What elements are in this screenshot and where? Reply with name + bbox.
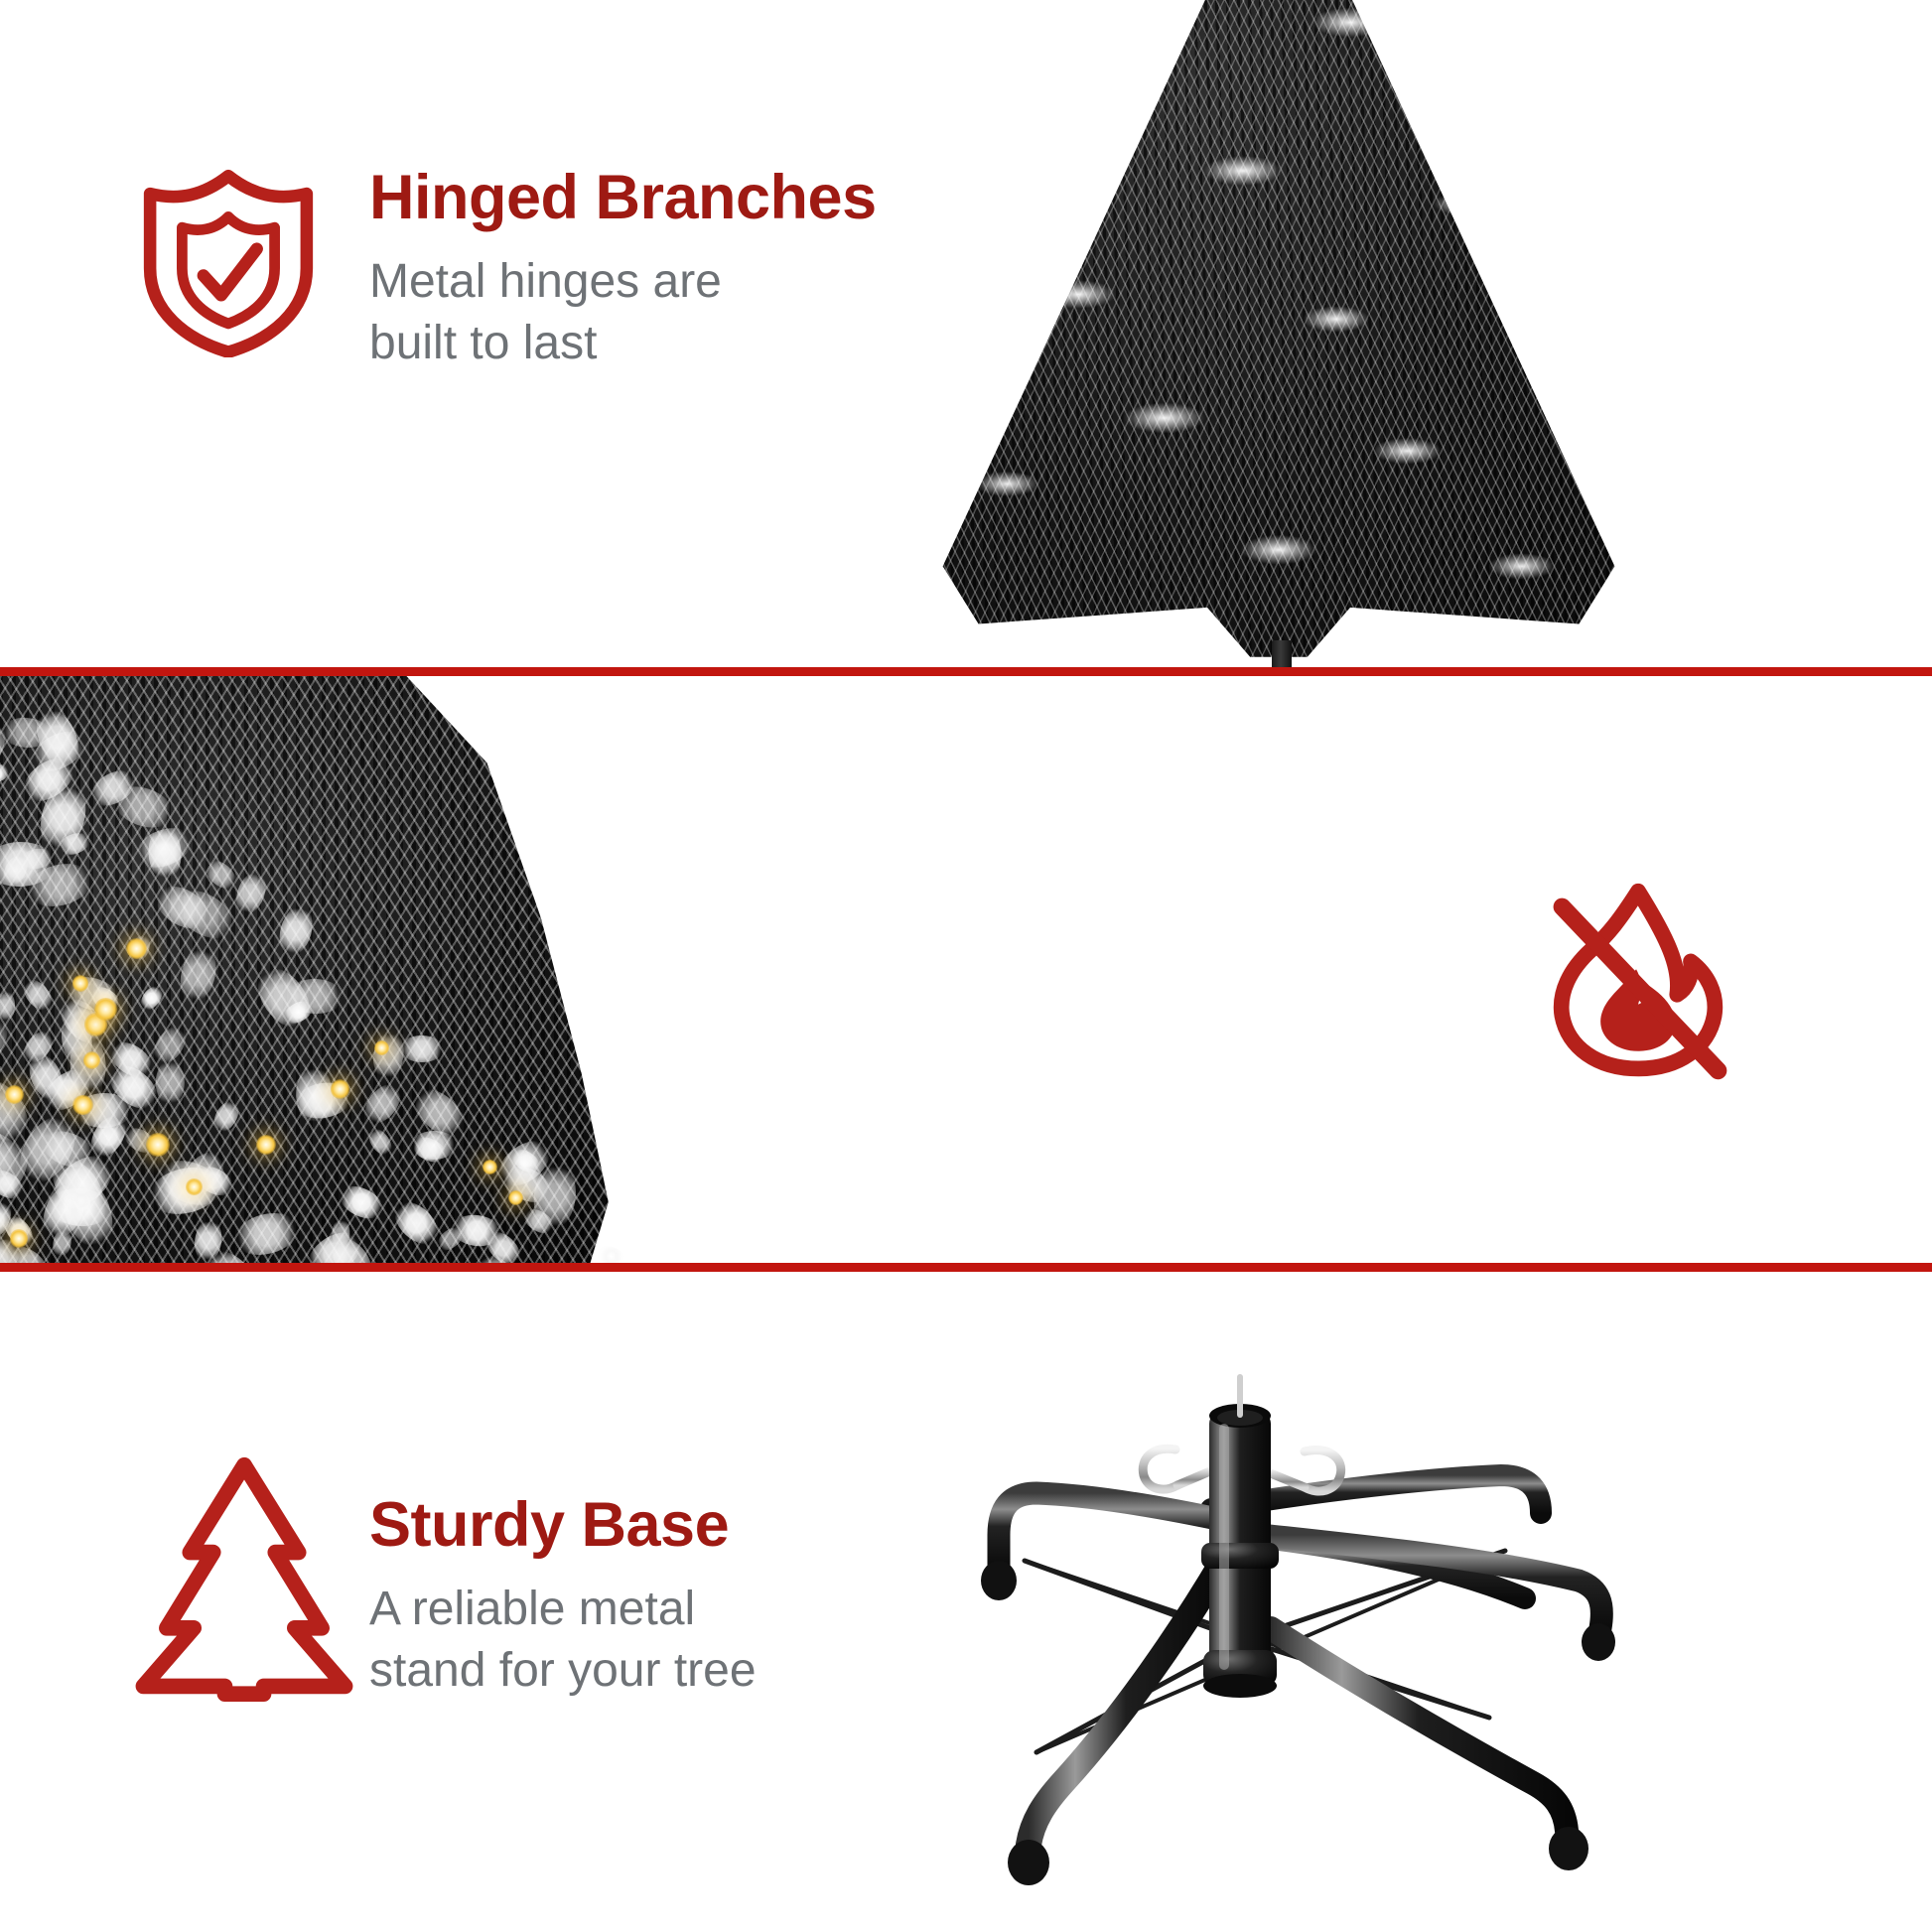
tree-foliage — [921, 0, 1636, 665]
feature-text-hinged-branches: Hinged Branches Metal hinges arebuilt to… — [369, 167, 877, 375]
feature-body: Metal hinges arebuilt to last — [369, 251, 877, 375]
flocked-tip — [594, 1242, 629, 1263]
product-feature-infographic: Hinged Branches Metal hinges arebuilt to… — [0, 0, 1932, 1932]
christmas-tree-icon — [127, 1451, 361, 1704]
tree-trunk — [1272, 640, 1292, 667]
product-photo-flocked-tree — [921, 0, 1636, 665]
feature-panel-hinged-branches: Hinged Branches Metal hinges arebuilt to… — [0, 0, 1932, 667]
feature-body: A reliable metalstand for your tree — [369, 1579, 757, 1703]
feature-heading: Sturdy Base — [369, 1494, 757, 1557]
feature-body-line-2: built to last — [369, 317, 597, 369]
section-divider — [0, 667, 1932, 676]
product-photo-prelit-tree-closeup — [0, 676, 635, 1263]
shield-check-icon — [139, 169, 318, 357]
feature-body-line-1: Metal hinges are — [369, 255, 722, 308]
product-photo-metal-tree-stand — [794, 1301, 1708, 1896]
feature-heading: Hinged Branches — [369, 167, 877, 229]
feature-text-sturdy-base: Sturdy Base A reliable metalstand for yo… — [369, 1494, 757, 1703]
no-flame-icon — [1531, 876, 1745, 1090]
feature-body-line-2: stand for your tree — [369, 1644, 757, 1697]
section-divider — [0, 1263, 1932, 1272]
tree-foliage-closeup — [0, 676, 635, 1263]
feature-body-line-1: A reliable metal — [369, 1583, 695, 1635]
